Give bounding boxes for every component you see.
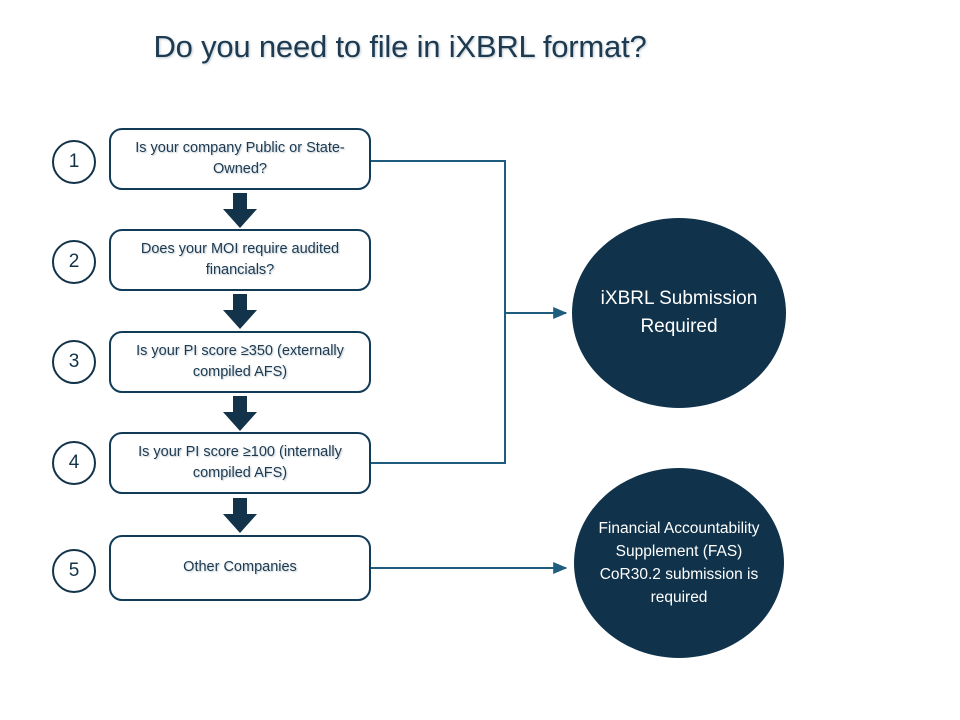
flowchart-canvas: Do you need to file in iXBRL format? 1 I… [0,0,960,720]
down-arrow-icon-4-to-5 [223,498,257,533]
step-box-2[interactable]: Does your MOI require audited financials… [109,229,371,291]
step-number-5: 5 [52,549,96,593]
outcome-label-ixbrl: iXBRL Submission Required [572,285,786,342]
outcome-label-fas: Financial Accountability Supplement (FAS… [574,517,784,610]
down-arrow-icon-3-to-4 [223,396,257,431]
connector-bracket-ixbrl [371,161,505,463]
page-title: Do you need to file in iXBRL format? [120,26,680,69]
down-arrow-icon-2-to-3 [223,294,257,329]
step-number-3: 3 [52,340,96,384]
step-box-1[interactable]: Is your company Public or State-Owned? [109,128,371,190]
step-box-5[interactable]: Other Companies [109,535,371,601]
step-box-3[interactable]: Is your PI score ≥350 (externally compil… [109,331,371,393]
outcome-circle-ixbrl[interactable]: iXBRL Submission Required [572,218,786,408]
step-box-4[interactable]: Is your PI score ≥100 (internally compil… [109,432,371,494]
step-number-4: 4 [52,441,96,485]
down-arrow-icon-1-to-2 [223,193,257,228]
step-number-1: 1 [52,140,96,184]
step-number-2: 2 [52,240,96,284]
outcome-circle-fas[interactable]: Financial Accountability Supplement (FAS… [574,468,784,658]
